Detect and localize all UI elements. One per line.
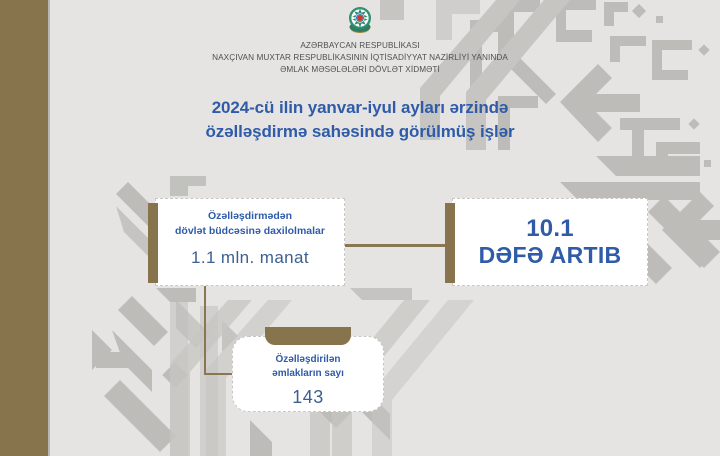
connector-vertical-segment (204, 280, 206, 373)
card-budget-accent-bar (148, 203, 158, 283)
org-line-service: ƏMLAK MƏSƏLƏLƏRİ DÖVLƏT XİDMƏTİ (0, 64, 720, 76)
card-budget-label-line-2: dövlət büdcəsinə daxilolmalar (164, 224, 336, 239)
card-budget-label-line-1: Özəlləşdirmədən (164, 209, 336, 224)
connector-budget-to-multiplier (340, 244, 450, 247)
card-budget-revenue[interactable]: Özəlləşdirmədən dövlət büdcəsinə daxilol… (155, 198, 345, 286)
card-budget-value: 1.1 mln. manat (156, 248, 344, 268)
card-multiplier-number: 10.1 (526, 215, 574, 242)
azerbaijan-state-emblem-icon (345, 4, 375, 36)
card-growth-multiplier[interactable]: 10.1 DƏFƏ ARTIB (452, 198, 648, 286)
card-multiplier-accent-bar (445, 203, 455, 283)
card-count-top-tab (265, 327, 351, 345)
page-title: 2024-cü ilin yanvar-iyul ayları ərzində … (0, 96, 720, 144)
card-count-label: Özəlləşdirilən əmlakların sayı (233, 353, 383, 381)
org-line-republic: AZƏRBAYCAN RESPUBLİKASI (0, 40, 720, 52)
page-title-line-2: özəlləşdirmə sahəsində görülmüş işlər (0, 120, 720, 144)
card-multiplier-caption: DƏFƏ ARTIB (479, 242, 622, 269)
card-budget-label: Özəlləşdirmədən dövlət büdcəsinə daxilol… (156, 209, 344, 239)
emblem-wrapper (0, 4, 720, 40)
infographic-canvas: AZƏRBAYCAN RESPUBLİKASI NAXÇIVAN MUXTAR … (0, 0, 720, 456)
card-privatized-count[interactable]: Özəlləşdirilən əmlakların sayı 143 (232, 336, 384, 412)
card-count-label-line-2: əmlakların sayı (243, 367, 373, 381)
header: AZƏRBAYCAN RESPUBLİKASI NAXÇIVAN MUXTAR … (0, 0, 720, 76)
card-count-label-line-1: Özəlləşdirilən (243, 353, 373, 367)
org-line-ministry: NAXÇIVAN MUXTAR RESPUBLİKASININ İQTİSADİ… (0, 52, 720, 64)
page-title-line-1: 2024-cü ilin yanvar-iyul ayları ərzində (0, 96, 720, 120)
card-count-value: 143 (233, 387, 383, 408)
